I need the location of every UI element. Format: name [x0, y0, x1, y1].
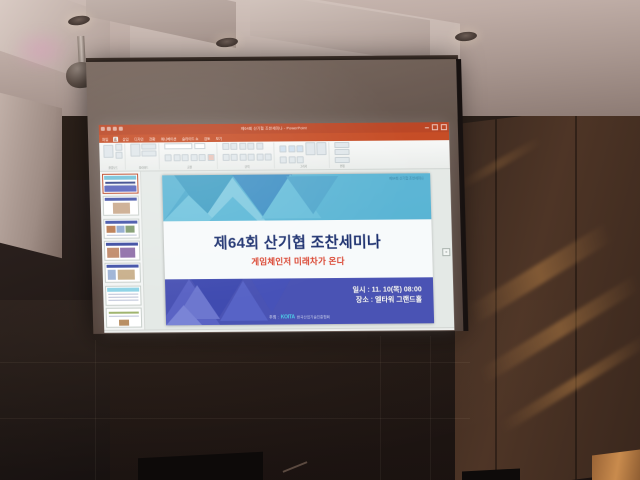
new-slide-icon[interactable]: [130, 144, 140, 157]
event-datetime: 일시 : 11. 10(목) 08:00: [353, 285, 422, 296]
tab-home[interactable]: 홈: [113, 136, 118, 141]
copy-icon[interactable]: [115, 152, 122, 159]
font-name-combo[interactable]: [164, 143, 192, 149]
koita-logo: KOITA: [281, 314, 295, 320]
shape-effects-icon[interactable]: [297, 156, 304, 163]
tab-insert[interactable]: 삽입: [121, 136, 129, 141]
window-title: 제64회 산기협 조찬세미나 - PowerPoint: [241, 126, 307, 132]
shape-gallery-icon[interactable]: [296, 145, 303, 152]
slide-title: 제64회 산기협 조찬세미나: [214, 231, 382, 253]
tab-view[interactable]: 보기: [215, 135, 223, 140]
reset-icon[interactable]: [141, 150, 156, 156]
redo-icon[interactable]: [113, 126, 117, 130]
underline-icon[interactable]: [182, 154, 189, 161]
ribbon-group-label: 글꼴: [165, 165, 215, 169]
arrange-icon[interactable]: [305, 142, 315, 155]
ribbon-group-font[interactable]: 글꼴: [162, 143, 217, 169]
tab-transitions[interactable]: 전환: [148, 136, 156, 141]
line-spacing-icon[interactable]: [256, 143, 263, 150]
italic-icon[interactable]: [173, 154, 180, 161]
ribbon-group-clipboard[interactable]: 클립보드: [101, 144, 125, 170]
ribbon-group-paragraph[interactable]: 단락: [220, 143, 275, 169]
start-slideshow-icon[interactable]: [119, 126, 123, 130]
ribbon-group-label: 슬라이드: [130, 165, 157, 169]
current-slide[interactable]: 제64회 산기협 조찬세미나 제64회 산기협 조찬세미나 게임체인저 미래차가…: [162, 173, 434, 325]
ribbon[interactable]: 클립보드 슬라이드: [99, 140, 450, 172]
tab-review[interactable]: 검토: [203, 136, 211, 141]
slide-thumbnail[interactable]: [102, 174, 139, 194]
ribbon-group-label: 단락: [222, 165, 272, 169]
align-right-icon[interactable]: [239, 154, 246, 161]
minimize-icon[interactable]: [425, 127, 429, 128]
indent-increase-icon[interactable]: [247, 143, 254, 150]
shape-gallery-icon[interactable]: [279, 145, 286, 152]
replace-icon[interactable]: [334, 149, 349, 155]
quick-styles-icon[interactable]: [316, 142, 326, 155]
powerpoint-window[interactable]: 제64회 산기협 조찬세미나 - PowerPoint 파일 홈 삽입 디자인 …: [99, 122, 455, 333]
host-organization-name: 한국산업기술진흥협회: [297, 315, 330, 320]
furniture-dark: [462, 468, 520, 480]
paste-icon[interactable]: [103, 145, 113, 158]
tab-slideshow[interactable]: 슬라이드 쇼: [181, 136, 200, 141]
host-prefix-label: 주최 :: [269, 314, 279, 320]
font-size-combo[interactable]: [194, 143, 205, 149]
shape-gallery-icon[interactable]: [288, 145, 295, 152]
tab-animations[interactable]: 애니메이션: [160, 136, 178, 141]
indent-decrease-icon[interactable]: [239, 143, 246, 150]
event-venue: 장소 : 엘타워 그랜드홀: [353, 295, 422, 306]
bullets-icon[interactable]: [222, 143, 229, 150]
ribbon-group-label: 편집: [335, 164, 350, 168]
shape-fill-icon[interactable]: [280, 156, 287, 163]
shadow-icon[interactable]: [190, 154, 197, 161]
window-controls[interactable]: [425, 124, 447, 130]
slide-thumbnail[interactable]: [106, 308, 143, 328]
slide-thumbnail-panel[interactable]: [100, 172, 145, 330]
slide-host-line: 주최 : KOITA 한국산업기술진흥협회: [165, 313, 433, 321]
conference-room-scene: 제64회 산기협 조찬세미나 - PowerPoint 파일 홈 삽입 디자인 …: [0, 0, 640, 480]
cut-icon[interactable]: [115, 144, 122, 151]
light-glow: [10, 28, 72, 72]
slide-footer-band: 일시 : 11. 10(목) 08:00 장소 : 엘타워 그랜드홀 주최 : …: [164, 277, 433, 325]
find-icon[interactable]: [334, 142, 349, 148]
slide-thumbnail[interactable]: [103, 196, 140, 216]
save-icon[interactable]: [101, 126, 105, 130]
shape-outline-icon[interactable]: [288, 156, 295, 163]
ribbon-group-slides[interactable]: 슬라이드: [128, 143, 160, 169]
slide-thumbnail[interactable]: [103, 218, 140, 238]
ribbon-group-label: 클립보드: [104, 166, 123, 170]
bold-icon[interactable]: [165, 154, 172, 161]
align-center-icon[interactable]: [231, 154, 238, 161]
slide-event-details: 일시 : 11. 10(목) 08:00 장소 : 엘타워 그랜드홀: [353, 285, 423, 306]
font-color-icon[interactable]: [207, 153, 214, 160]
close-icon[interactable]: [441, 124, 447, 130]
slide-subtitle: 게임체인저 미래차가 온다: [251, 255, 345, 268]
tab-file[interactable]: 파일: [101, 136, 109, 141]
justify-icon[interactable]: [248, 154, 255, 161]
slide-thumbnail[interactable]: [104, 241, 141, 261]
layout-icon[interactable]: [141, 143, 156, 149]
quick-access-toolbar[interactable]: [101, 126, 123, 130]
undo-icon[interactable]: [107, 126, 111, 130]
projection-screen: 제64회 산기협 조찬세미나 - PowerPoint 파일 홈 삽입 디자인 …: [86, 59, 463, 334]
slide-thumbnail[interactable]: [104, 263, 141, 283]
slide-corner-note: 제64회 산기협 조찬세미나: [389, 176, 424, 181]
columns-icon[interactable]: [256, 154, 263, 161]
select-icon[interactable]: [335, 157, 350, 163]
notes-toggle-button[interactable]: ≡: [442, 248, 450, 256]
strikethrough-icon[interactable]: [199, 154, 206, 161]
slide-canvas[interactable]: 제64회 산기협 조찬세미나 제64회 산기협 조찬세미나 게임체인저 미래차가…: [141, 169, 454, 329]
editor-body: 제64회 산기협 조찬세미나 제64회 산기협 조찬세미나 게임체인저 미래차가…: [100, 169, 454, 330]
slide-title-area[interactable]: 제64회 산기협 조찬세미나 게임체인저 미래차가 온다: [163, 219, 433, 279]
numbering-icon[interactable]: [230, 143, 237, 150]
ribbon-group-label: 그리기: [280, 164, 327, 168]
restore-icon[interactable]: [432, 124, 438, 130]
slide-thumbnail[interactable]: [105, 285, 142, 305]
wall-pillar: [0, 92, 62, 258]
align-left-icon[interactable]: [222, 154, 229, 161]
ribbon-group-drawing[interactable]: 그리기: [277, 142, 330, 168]
text-direction-icon[interactable]: [265, 154, 272, 161]
tab-design[interactable]: 디자인: [133, 136, 144, 141]
ribbon-group-editing[interactable]: 편집: [332, 142, 352, 168]
